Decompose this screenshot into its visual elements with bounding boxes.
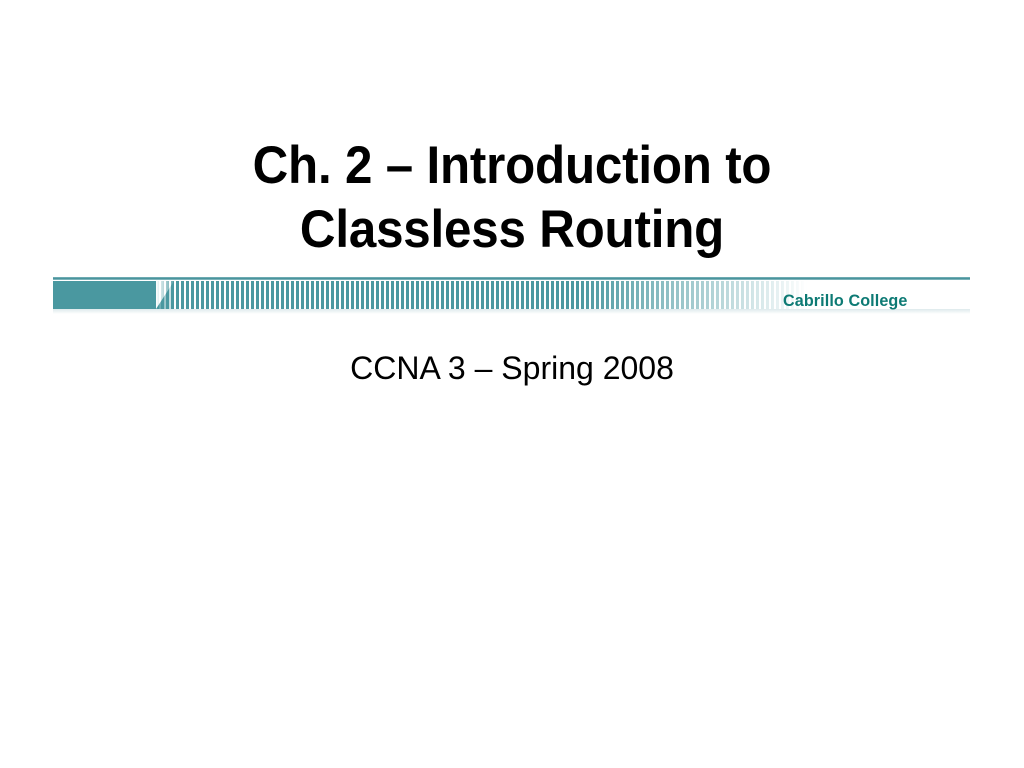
cabrillo-college-logo: Cabrillo College <box>783 291 907 311</box>
title-line-1: Ch. 2 – Introduction to <box>36 134 988 198</box>
divider-solid-block <box>53 281 156 309</box>
divider-top-rule <box>53 277 970 280</box>
title-line-2: Classless Routing <box>36 198 988 262</box>
presentation-slide: Ch. 2 – Introduction to Classless Routin… <box>0 0 1024 768</box>
slide-subtitle: CCNA 3 – Spring 2008 <box>0 348 1024 388</box>
page-title: Ch. 2 – Introduction to Classless Routin… <box>0 134 1024 262</box>
